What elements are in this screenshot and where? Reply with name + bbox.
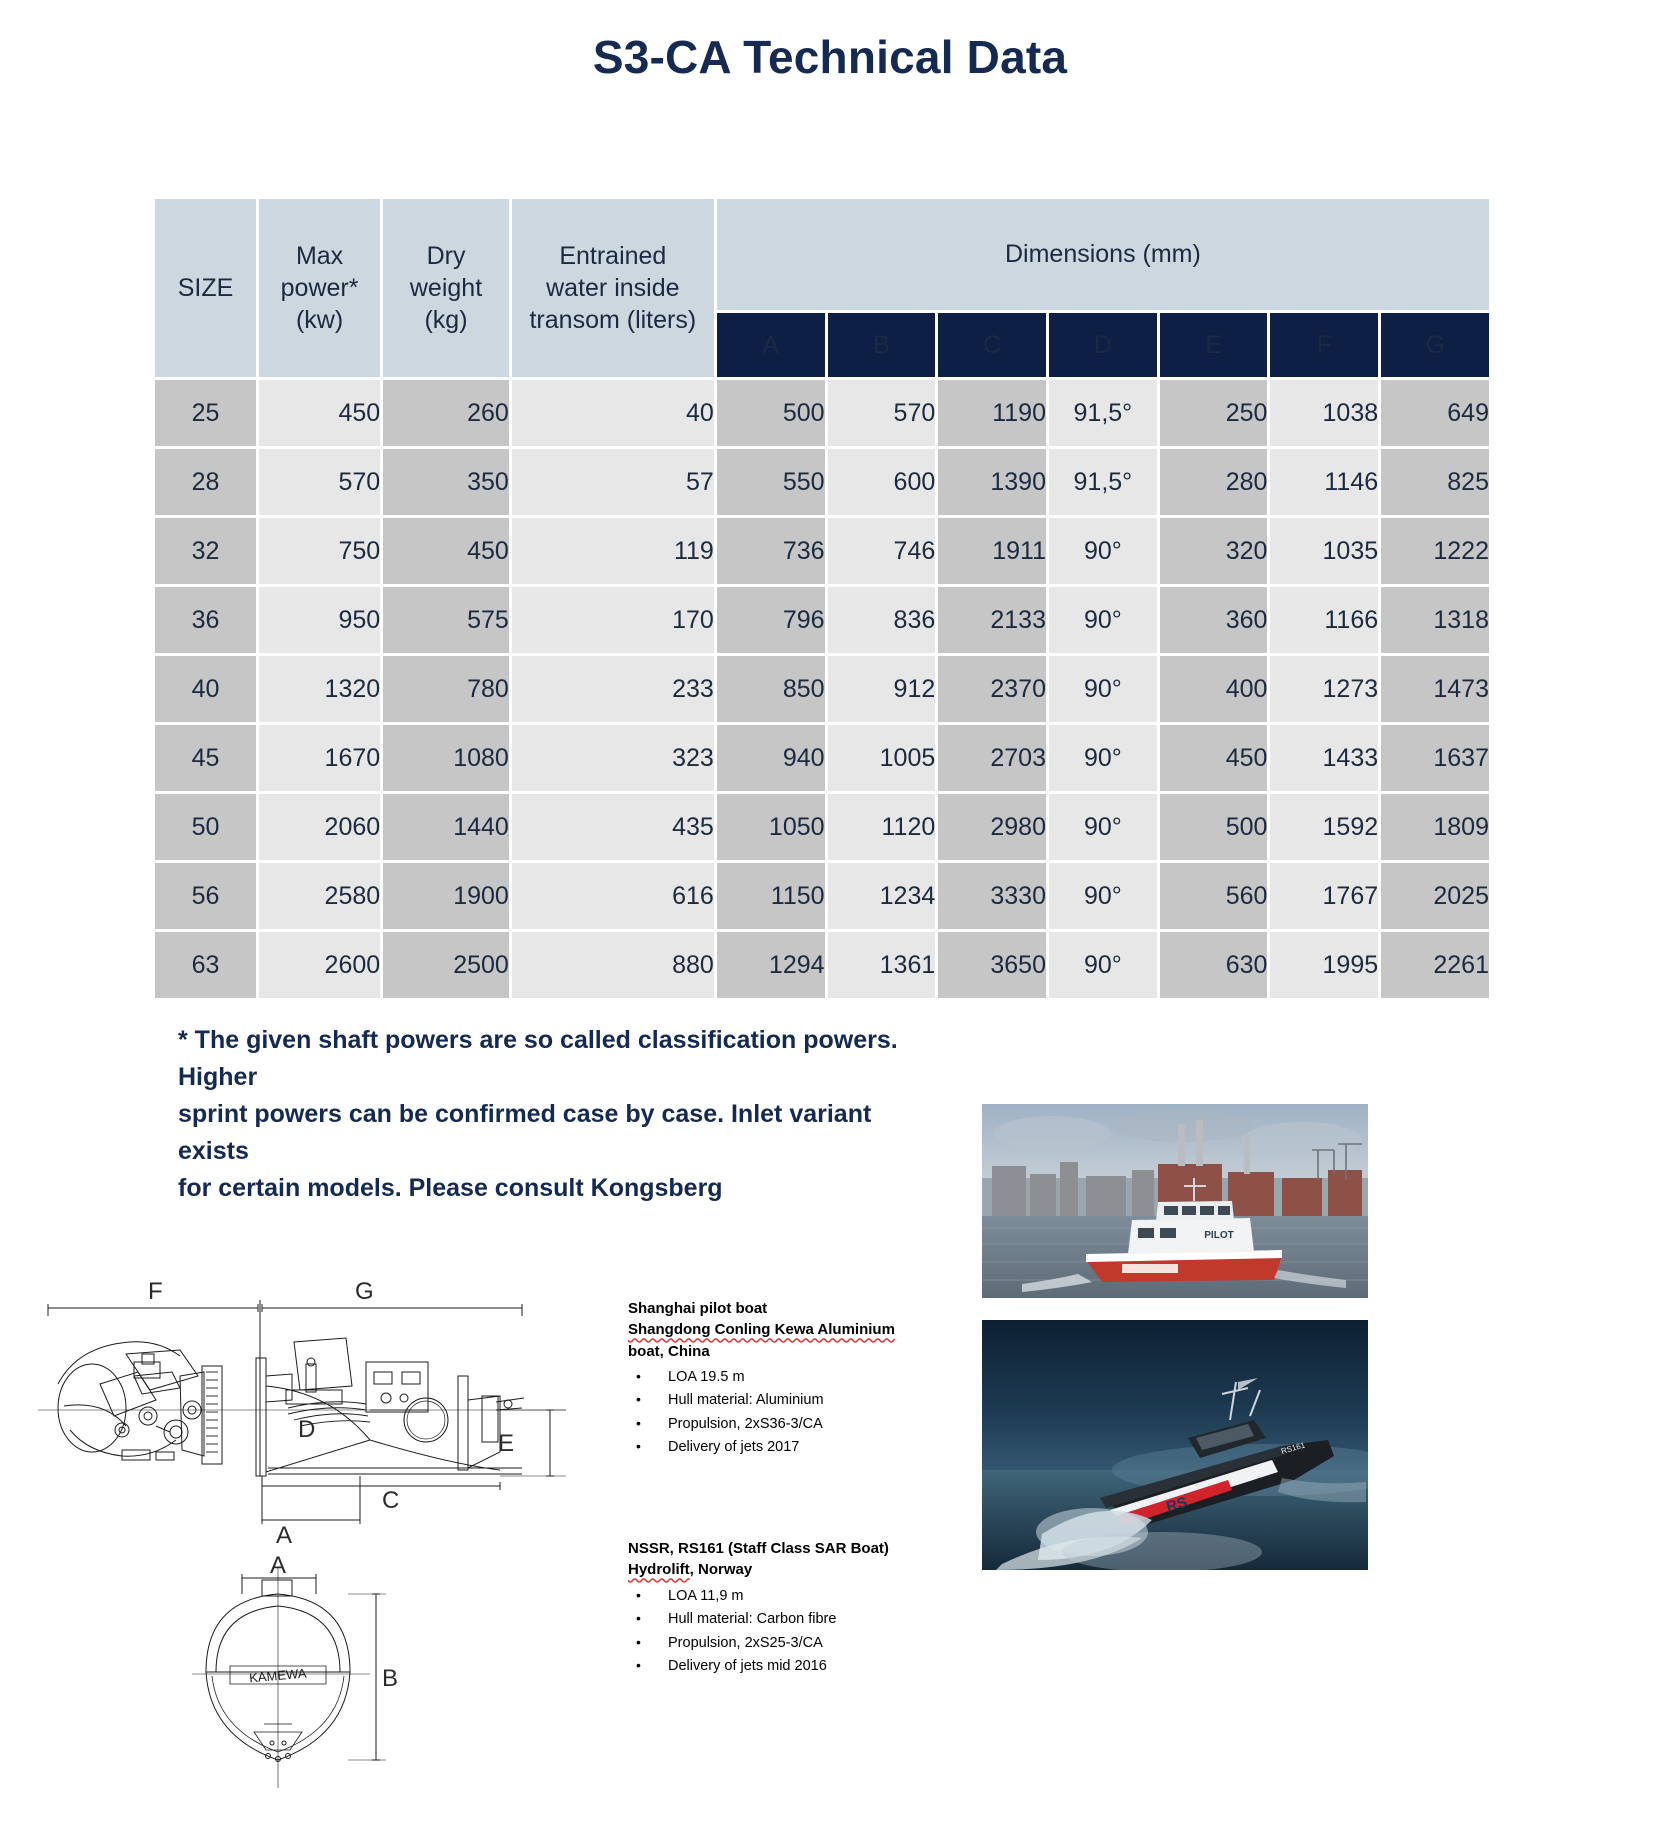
cell-dim-f: 1767 [1270,863,1378,929]
case-1-bullet-2-text: Hull material: Aluminium [668,1392,824,1408]
photo-2-svg: RS RS161 [982,1320,1368,1570]
header-max-power-line2: power* [259,272,380,304]
cell-entrained-water: 119 [512,518,714,584]
cell-dim-a: 1150 [717,863,825,929]
cell-dim-d: 91,5° [1049,380,1157,446]
cell-max-power: 1670 [259,725,380,791]
cell-max-power: 2580 [259,863,380,929]
header-dim-c: C [938,313,1046,377]
cell-size: 50 [155,794,256,860]
case-1-bullet-list: LOA 19.5 m Hull material: Aluminium Prop… [628,1366,968,1460]
page-title: S3-CA Technical Data [0,0,1660,84]
photo-1-svg: PILOT [982,1104,1368,1298]
cell-dim-a: 796 [717,587,825,653]
header-entrained-line2: water inside [512,272,714,304]
cell-dim-e: 560 [1160,863,1268,929]
footnote: * The given shaft powers are so called c… [178,1022,938,1207]
dim-label-A-front: A [270,1552,286,1580]
cell-dim-b: 600 [828,449,936,515]
cell-dim-d: 90° [1049,725,1157,791]
cell-size: 45 [155,725,256,791]
pilot-marking-text: PILOT [1204,1230,1233,1241]
waterjet-front-view-drawing: KAMEWA A B [180,1560,440,1810]
cell-dim-e: 320 [1160,518,1268,584]
cell-dim-g: 1318 [1381,587,1489,653]
cell-dim-f: 1433 [1270,725,1378,791]
footnote-line-2: sprint powers can be confirmed case by c… [178,1096,938,1170]
cell-size: 25 [155,380,256,446]
cell-dim-c: 1911 [938,518,1046,584]
cell-max-power: 570 [259,449,380,515]
nssr-rs161-rescue-boat-photo: RS RS161 [982,1320,1368,1570]
cell-dim-g: 649 [1381,380,1489,446]
cell-dim-e: 630 [1160,932,1268,998]
case-1-bullet-2: Hull material: Aluminium [628,1389,968,1412]
header-dim-f: F [1270,313,1378,377]
table-row: 36950575170796836213390°36011661318 [155,587,1489,653]
waterjet-side-view-drawing: F G D E C A [30,1280,610,1540]
cell-dim-e: 360 [1160,587,1268,653]
cell-dim-f: 1166 [1270,587,1378,653]
cell-max-power: 2600 [259,932,380,998]
cell-entrained-water: 616 [512,863,714,929]
cell-dim-d: 90° [1049,518,1157,584]
table-body: 2545026040500570119091,5°250103864928570… [155,380,1489,998]
dim-label-E: E [498,1430,514,1458]
header-entrained-line1: Entrained [512,240,714,272]
cell-dry-weight: 780 [383,656,509,722]
footnote-line-1: * The given shaft powers are so called c… [178,1022,938,1096]
cell-dim-f: 1038 [1270,380,1378,446]
case-1-bullet-3: Propulsion, 2xS36-3/CA [628,1413,968,1436]
header-max-power-line3: (kw) [259,304,380,336]
cell-entrained-water: 880 [512,932,714,998]
dim-label-G: G [355,1278,374,1306]
header-dimensions-group: Dimensions (mm) [717,199,1489,310]
dim-label-B-front: B [382,1665,398,1693]
cell-max-power: 1320 [259,656,380,722]
table-row: 2857035057550600139091,5°2801146825 [155,449,1489,515]
case-2-bullet-list: LOA 11,9 m Hull material: Carbon fibre P… [628,1585,968,1679]
cell-dim-f: 1592 [1270,794,1378,860]
cell-entrained-water: 170 [512,587,714,653]
cell-dry-weight: 350 [383,449,509,515]
case-2-subtitle: Hydrolift, Norway [628,1559,968,1580]
cell-dim-c: 2703 [938,725,1046,791]
cell-max-power: 2060 [259,794,380,860]
cell-dim-g: 1222 [1381,518,1489,584]
front-view-svg: KAMEWA [180,1560,440,1810]
header-dry-weight-line1: Dry [383,240,509,272]
cell-dim-d: 90° [1049,794,1157,860]
header-entrained-line3: transom (liters) [512,304,714,336]
cell-dim-b: 912 [828,656,936,722]
cell-dim-c: 3650 [938,932,1046,998]
table-row: 502060144043510501120298090°50015921809 [155,794,1489,860]
table-row: 632600250088012941361365090°63019952261 [155,932,1489,998]
cell-entrained-water: 435 [512,794,714,860]
case-1-subtitle: Shangdong Conling Kewa Aluminium boat, C… [628,1319,968,1362]
header-dim-g: G [1381,313,1489,377]
cell-dim-c: 3330 [938,863,1046,929]
header-dry-weight-line3: (kg) [383,304,509,336]
cell-dim-f: 1995 [1270,932,1378,998]
case-1-subtitle-rest: boat, China [628,1341,710,1362]
cell-dry-weight: 450 [383,518,509,584]
cell-size: 28 [155,449,256,515]
cell-dim-e: 250 [1160,380,1268,446]
cell-dim-a: 736 [717,518,825,584]
cell-entrained-water: 40 [512,380,714,446]
header-max-power: Max power* (kw) [259,199,380,377]
cell-dim-f: 1146 [1270,449,1378,515]
cell-dry-weight: 1080 [383,725,509,791]
table-row: 562580190061611501234333090°56017672025 [155,863,1489,929]
shanghai-pilot-boat-photo: PILOT [982,1104,1368,1298]
table-row: 401320780233850912237090°40012731473 [155,656,1489,722]
cell-dim-b: 746 [828,518,936,584]
cell-dim-g: 1637 [1381,725,1489,791]
cell-dim-g: 1473 [1381,656,1489,722]
cell-entrained-water: 323 [512,725,714,791]
dim-label-A-side: A [276,1522,292,1550]
dim-label-D: D [298,1416,315,1444]
cell-dim-e: 280 [1160,449,1268,515]
case-2-subtitle-spellchecked: Hydrolift [628,1559,690,1580]
cell-max-power: 950 [259,587,380,653]
header-entrained-water: Entrained water inside transom (liters) [512,199,714,377]
header-dim-d: D [1049,313,1157,377]
case-2-bullet-3: Propulsion, 2xS25-3/CA [628,1632,968,1655]
cell-dim-b: 1005 [828,725,936,791]
cell-dry-weight: 2500 [383,932,509,998]
cell-dim-g: 2261 [1381,932,1489,998]
cell-entrained-water: 233 [512,656,714,722]
cell-dim-g: 1809 [1381,794,1489,860]
cell-dim-c: 2133 [938,587,1046,653]
case-study-nssr-rs161: NSSR, RS161 (Staff Class SAR Boat) Hydro… [628,1538,968,1679]
header-dim-b: B [828,313,936,377]
dim-label-C: C [382,1487,399,1515]
cell-dim-a: 500 [717,380,825,446]
case-1-bullet-1: LOA 19.5 m [628,1366,968,1389]
cell-dry-weight: 1440 [383,794,509,860]
cell-dim-b: 1120 [828,794,936,860]
header-dim-a: A [717,313,825,377]
cell-dim-d: 91,5° [1049,449,1157,515]
cell-dry-weight: 260 [383,380,509,446]
case-study-shanghai-pilot-boat: Shanghai pilot boat Shangdong Conling Ke… [628,1298,968,1460]
technical-data-table-wrapper: SIZE Max power* (kw) Dry weight (kg) Ent… [152,196,1492,1001]
cell-dim-b: 836 [828,587,936,653]
header-max-power-line1: Max [259,240,380,272]
case-2-subtitle-rest: , Norway [690,1559,753,1580]
cell-size: 63 [155,932,256,998]
cell-size: 36 [155,587,256,653]
cell-entrained-water: 57 [512,449,714,515]
case-1-bullet-4: Delivery of jets 2017 [628,1436,968,1459]
technical-data-table: SIZE Max power* (kw) Dry weight (kg) Ent… [152,196,1492,1001]
case-1-title: Shanghai pilot boat [628,1298,968,1319]
table-row: 32750450119736746191190°32010351222 [155,518,1489,584]
cell-dim-b: 570 [828,380,936,446]
cell-dim-c: 2980 [938,794,1046,860]
case-2-title: NSSR, RS161 (Staff Class SAR Boat) [628,1538,968,1559]
table-row: 2545026040500570119091,5°2501038649 [155,380,1489,446]
header-size: SIZE [155,199,256,377]
cell-dim-d: 90° [1049,587,1157,653]
cell-size: 40 [155,656,256,722]
header-dry-weight: Dry weight (kg) [383,199,509,377]
cell-dim-c: 1190 [938,380,1046,446]
cell-max-power: 750 [259,518,380,584]
case-2-bullet-4: Delivery of jets mid 2016 [628,1655,968,1678]
cell-dim-b: 1234 [828,863,936,929]
case-1-subtitle-spellchecked: Shangdong Conling Kewa Aluminium [628,1319,895,1340]
cell-dry-weight: 575 [383,587,509,653]
footnote-line-3: for certain models. Please consult Kongs… [178,1170,938,1207]
cell-dim-b: 1361 [828,932,936,998]
cell-dim-a: 1050 [717,794,825,860]
dim-label-F: F [148,1278,163,1306]
cell-dim-e: 450 [1160,725,1268,791]
cell-size: 32 [155,518,256,584]
cell-dim-a: 550 [717,449,825,515]
side-view-svg [30,1280,610,1540]
table-header-row-group: SIZE Max power* (kw) Dry weight (kg) Ent… [155,199,1489,310]
cell-dim-f: 1273 [1270,656,1378,722]
cell-dim-e: 500 [1160,794,1268,860]
cell-dim-f: 1035 [1270,518,1378,584]
cell-dim-g: 2025 [1381,863,1489,929]
cell-dim-g: 825 [1381,449,1489,515]
cell-dim-c: 2370 [938,656,1046,722]
case-2-bullet-2: Hull material: Carbon fibre [628,1608,968,1631]
cell-dim-a: 1294 [717,932,825,998]
cell-dim-e: 400 [1160,656,1268,722]
cell-dim-a: 940 [717,725,825,791]
cell-size: 56 [155,863,256,929]
cell-dry-weight: 1900 [383,863,509,929]
cell-dim-a: 850 [717,656,825,722]
table-row: 45167010803239401005270390°45014331637 [155,725,1489,791]
cell-dim-d: 90° [1049,656,1157,722]
cell-dim-c: 1390 [938,449,1046,515]
header-dry-weight-line2: weight [383,272,509,304]
cell-dim-d: 90° [1049,932,1157,998]
case-2-bullet-1: LOA 11,9 m [628,1585,968,1608]
cell-max-power: 450 [259,380,380,446]
cell-dim-d: 90° [1049,863,1157,929]
header-dim-e: E [1160,313,1268,377]
